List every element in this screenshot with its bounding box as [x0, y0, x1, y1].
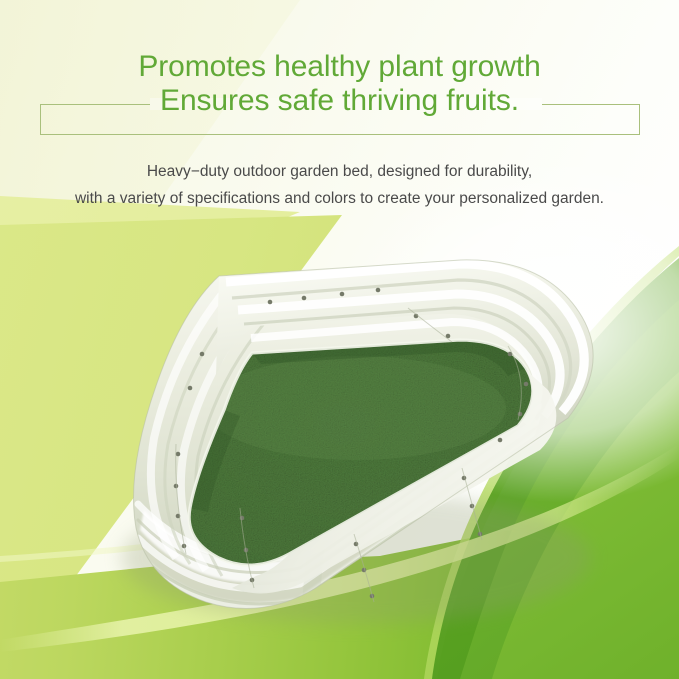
page-title: Promotes healthy plant growth Ensures sa…: [0, 50, 679, 118]
product-image-garden-bed: [56, 258, 626, 628]
marketing-banner: Promotes healthy plant growth Ensures sa…: [0, 0, 679, 679]
headline-line-1: Promotes healthy plant growth: [0, 50, 679, 84]
subtitle-line-1: Heavy−duty outdoor garden bed, designed …: [0, 158, 679, 185]
headline-line-2: Ensures safe thriving fruits.: [0, 84, 679, 118]
page-subtitle: Heavy−duty outdoor garden bed, designed …: [0, 158, 679, 212]
subtitle-line-2: with a variety of specifications and col…: [0, 185, 679, 212]
